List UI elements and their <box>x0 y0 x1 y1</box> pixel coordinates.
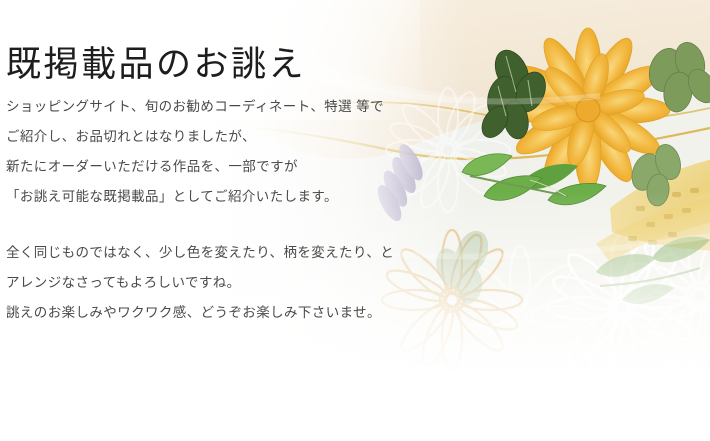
intro-line-3: 新たにオーダーいただける作品を、一部ですが <box>6 152 476 182</box>
closing-paragraph: 全く同じものではなく、少し色を変えたり、柄を変えたり、と アレンジなさってもよろ… <box>6 238 476 328</box>
intro-line-1: ショッピングサイト、旬のお勧めコーディネート、特選 等で <box>6 92 476 122</box>
intro-line-4: 「お誂え可能な既掲載品」としてご紹介いたします。 <box>6 182 476 212</box>
intro-line-2: ご紹介し、お品切れとはなりましたが、 <box>6 122 476 152</box>
content-layer: 既掲載品のお誂え ショッピングサイト、旬のお勧めコーディネート、特選 等で ご紹… <box>0 0 710 441</box>
page-root: 既掲載品のお誂え ショッピングサイト、旬のお勧めコーディネート、特選 等で ご紹… <box>0 0 710 441</box>
intro-paragraph: ショッピングサイト、旬のお勧めコーディネート、特選 等で ご紹介し、お品切れとは… <box>6 92 476 212</box>
closing-line-1: 全く同じものではなく、少し色を変えたり、柄を変えたり、と <box>6 238 476 268</box>
closing-line-3: 誂えのお楽しみやワクワク感、どうぞお楽しみ下さいませ。 <box>6 298 476 328</box>
closing-line-2: アレンジなさってもよろしいですね。 <box>6 268 476 298</box>
page-title: 既掲載品のお誂え <box>6 43 306 87</box>
